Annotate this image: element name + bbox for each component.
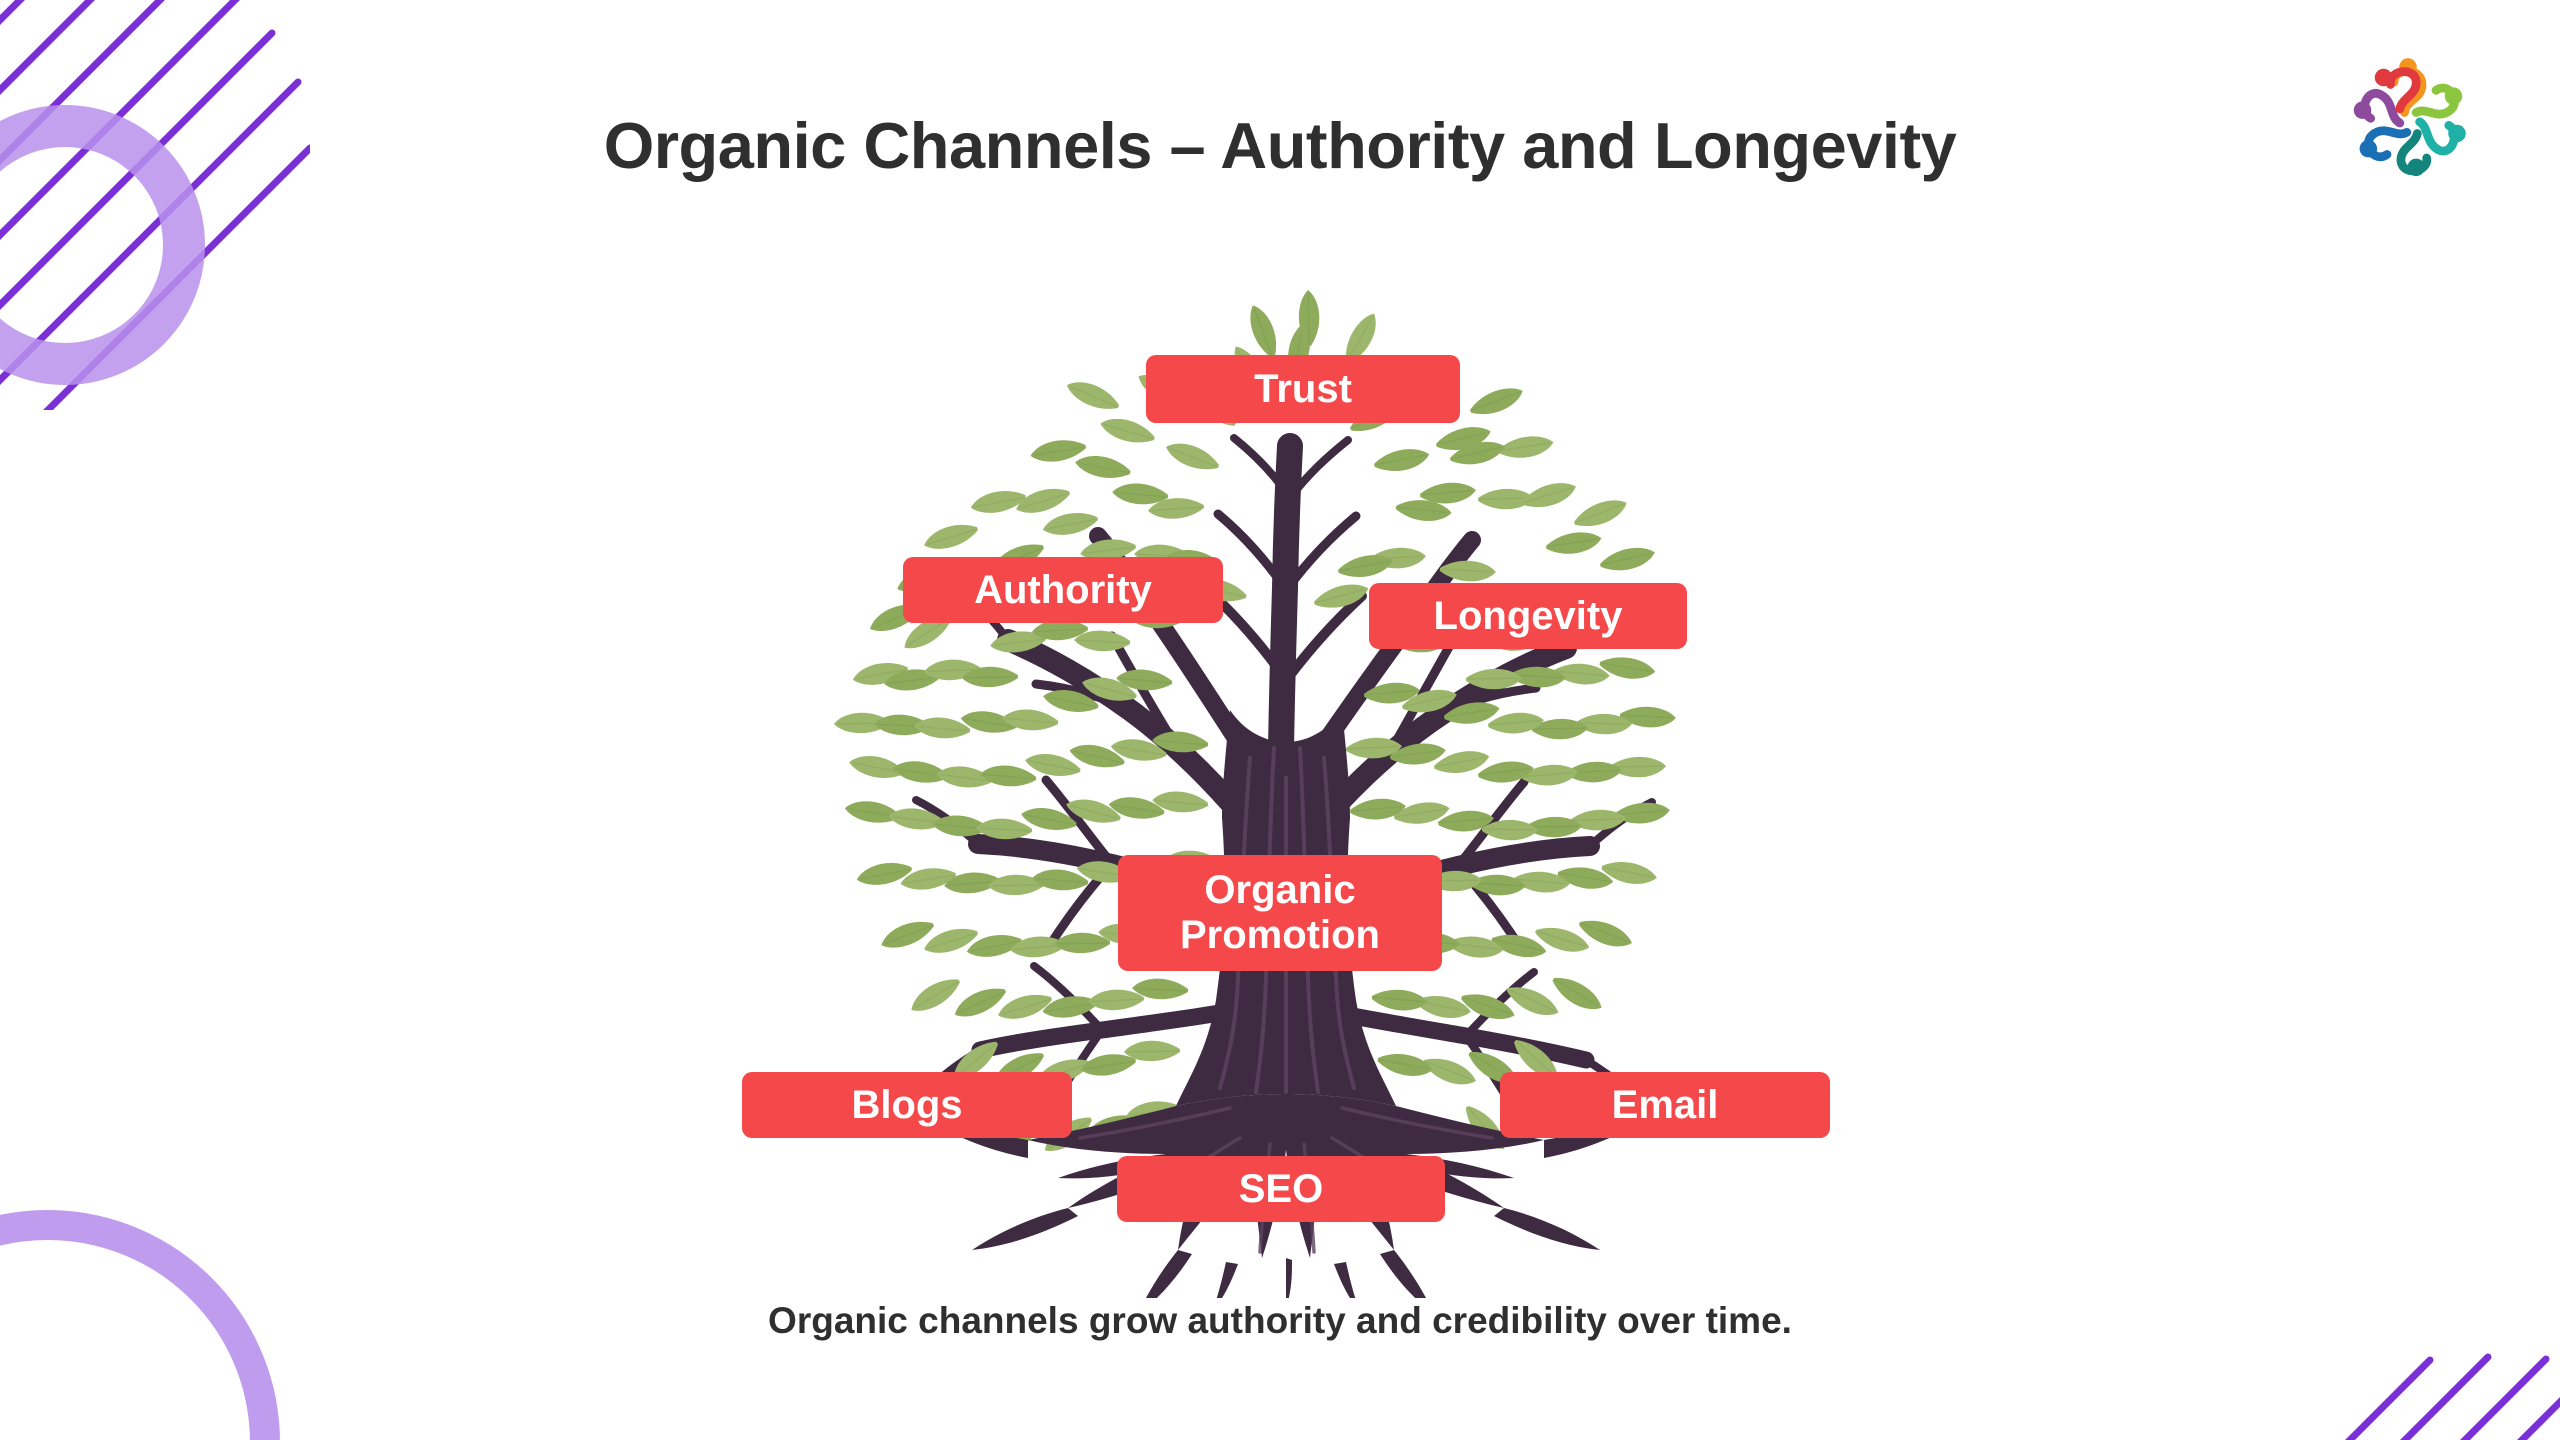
label-longevity[interactable]: Longevity xyxy=(1369,583,1687,649)
page-title: Organic Channels – Authority and Longevi… xyxy=(0,108,2560,183)
diagonal-stripes-icon xyxy=(0,0,310,410)
label-seo[interactable]: SEO xyxy=(1117,1156,1445,1222)
label-authority[interactable]: Authority xyxy=(903,557,1223,623)
slide-caption: Organic channels grow authority and cred… xyxy=(0,1300,2560,1342)
label-blogs[interactable]: Blogs xyxy=(742,1072,1072,1138)
people-circle-logo-icon xyxy=(2338,46,2478,186)
label-organic-promotion[interactable]: Organic Promotion xyxy=(1118,855,1442,971)
label-trust[interactable]: Trust xyxy=(1146,355,1460,423)
label-email[interactable]: Email xyxy=(1500,1072,1830,1138)
